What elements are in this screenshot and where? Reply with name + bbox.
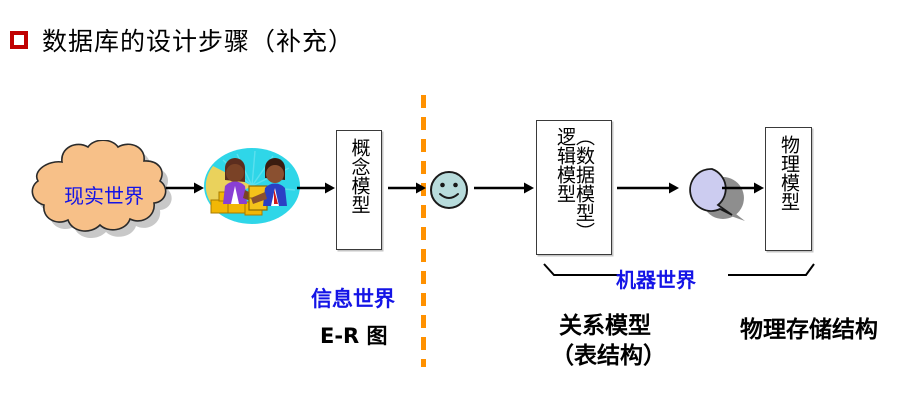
page-title: 数据库的设计步骤（补充） xyxy=(10,22,354,58)
node-physical-model-label: 物理模型 xyxy=(779,135,798,211)
arrow-concept-to-smiley xyxy=(388,181,426,195)
node-real-world-label: 现实世界 xyxy=(30,180,178,209)
arrow-smiley-to-logic xyxy=(474,181,534,195)
node-people-clipart[interactable] xyxy=(203,146,301,226)
annotation-table-structure: （表结构） xyxy=(551,336,666,370)
node-concept-model[interactable]: 概念模型 xyxy=(336,130,382,250)
node-physical-model[interactable]: 物理模型 xyxy=(765,127,812,251)
annotation-machine-world: 机器世界 xyxy=(616,264,696,293)
smiley-face-icon xyxy=(429,170,469,210)
node-logic-model-secondary-label: （数据模型） xyxy=(574,127,593,241)
annotation-info-world: 信息世界 xyxy=(311,283,395,313)
annotation-physical-store: 物理存储结构 xyxy=(740,310,878,344)
arrow-logic-to-bubble xyxy=(617,181,679,195)
node-real-world[interactable]: 现实世界 xyxy=(30,140,182,248)
node-logic-model[interactable]: （数据模型） 逻辑模型 xyxy=(536,120,612,255)
red-hollow-square-icon xyxy=(10,31,28,49)
arrow-people-to-concept xyxy=(297,181,335,195)
arrow-real-to-people xyxy=(166,181,204,195)
arrow-bubble-to-physical xyxy=(722,181,764,195)
people-exchanging-boxes-icon xyxy=(203,146,301,226)
annotation-er-diagram: E-R 图 xyxy=(320,320,388,350)
node-concept-model-label: 概念模型 xyxy=(350,138,369,214)
annotation-relation-model: 关系模型 xyxy=(559,306,651,340)
vertical-dashed-divider xyxy=(421,95,426,367)
title-text: 数据库的设计步骤（补充） xyxy=(42,22,354,58)
node-logic-model-label: 逻辑模型 xyxy=(555,127,574,203)
slide-canvas: 数据库的设计步骤（补充） 现实世界 xyxy=(0,0,907,418)
node-smiley[interactable] xyxy=(429,170,469,210)
